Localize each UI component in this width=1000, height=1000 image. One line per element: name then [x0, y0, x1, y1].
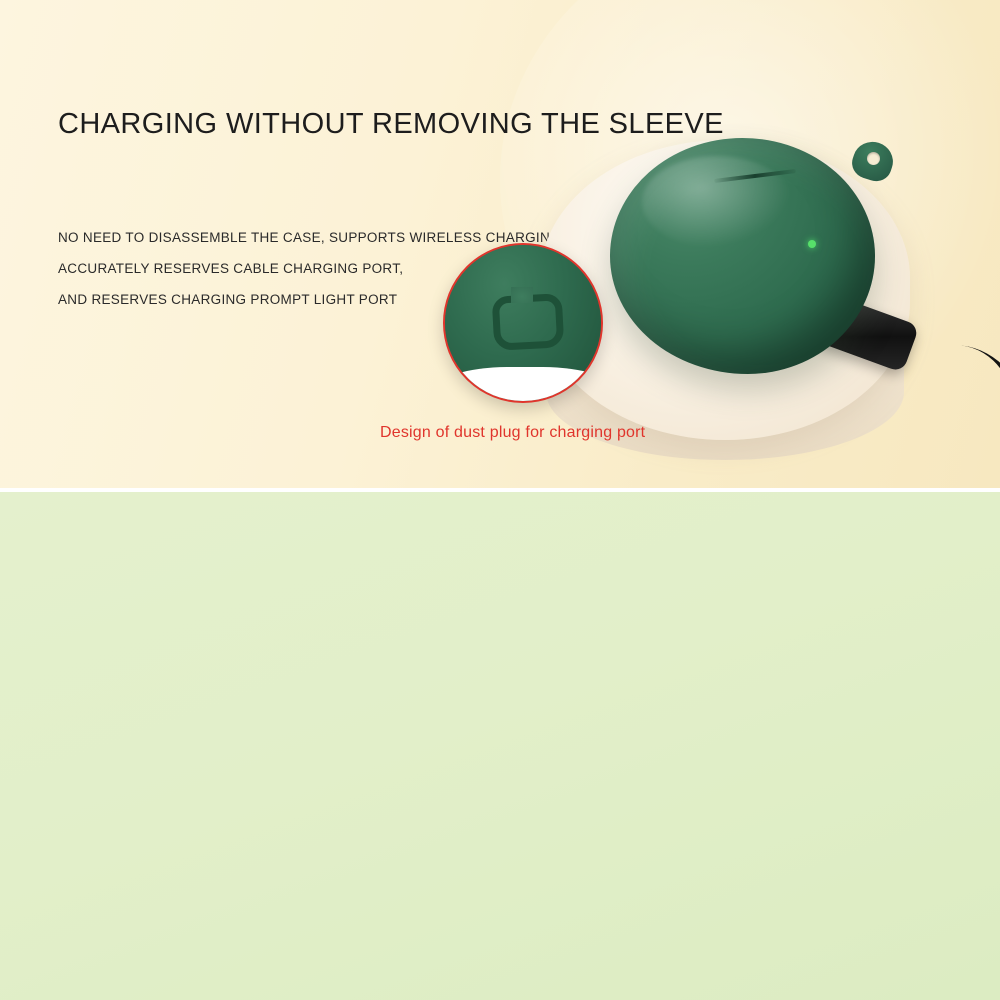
- product-infographic: CHARGING WITHOUT REMOVING THE SLEEVE NO …: [0, 0, 1000, 1000]
- dust-plug-gap: [511, 287, 533, 303]
- magnifier-callout: [443, 243, 603, 403]
- magnifier-lower-surface: [443, 367, 603, 403]
- bottom-panel: SUPPORT WIRELESS CHARGING PUT IT DOWN AN…: [0, 492, 1000, 1000]
- top-panel: CHARGING WITHOUT REMOVING THE SLEEVE NO …: [0, 0, 1000, 490]
- callout-caption: Design of dust plug for charging port: [380, 424, 645, 442]
- case-highlight-green: [642, 156, 792, 248]
- earbuds-case-green: [610, 138, 890, 382]
- charging-indicator-led-green: [808, 240, 816, 248]
- case-tab-hole-green: [867, 152, 880, 165]
- top-panel-title: CHARGING WITHOUT REMOVING THE SLEEVE: [58, 108, 724, 141]
